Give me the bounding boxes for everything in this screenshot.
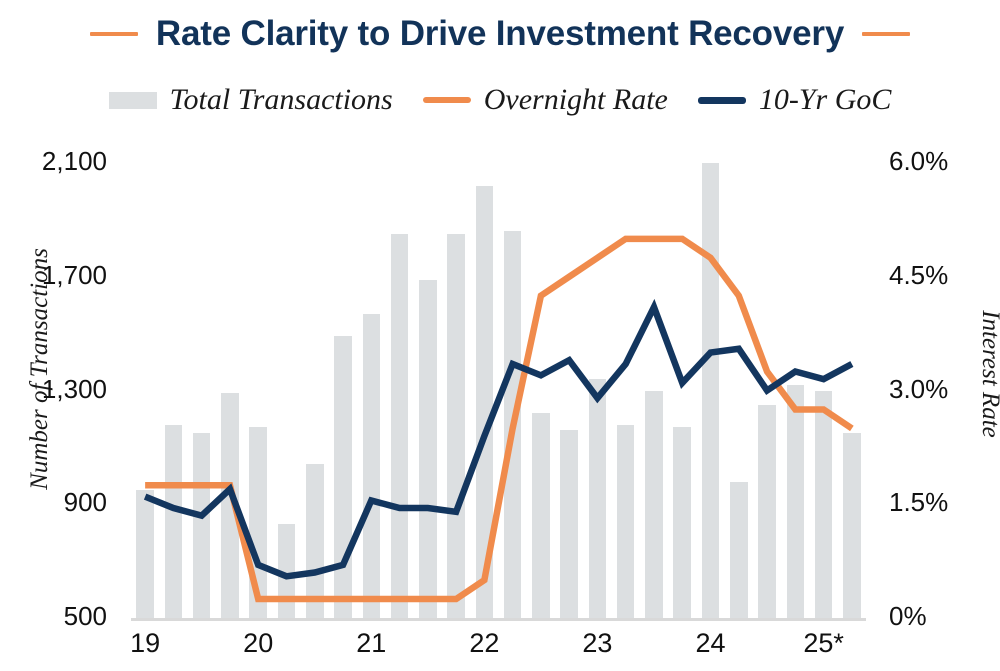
legend-label-total-transactions: Total Transactions — [170, 83, 393, 117]
x-axis-tick-label: 19 — [130, 628, 160, 659]
y-axis-right-tick-label: 0% — [889, 601, 927, 632]
title-rule-right-icon — [862, 32, 910, 36]
y-axis-left-tick-label: 1,700 — [42, 260, 107, 291]
x-axis-tick-label: 23 — [582, 628, 612, 659]
legend-item-total-transactions[interactable]: Total Transactions — [109, 83, 393, 117]
y-axis-left-tick-label: 500 — [64, 601, 107, 632]
x-axis-baseline — [131, 618, 866, 621]
legend-item-10yr-goc[interactable]: 10-Yr GoC — [698, 83, 892, 117]
y-axis-left-tick-label: 1,300 — [42, 374, 107, 405]
y-axis-right-tick-label: 6.0% — [889, 146, 948, 177]
bar-swatch-icon — [109, 92, 157, 109]
y-axis-left-tick-label: 900 — [64, 487, 107, 518]
y-axis-right-title: Interest Rate — [976, 259, 1000, 489]
x-axis-tick-label: 22 — [469, 628, 499, 659]
legend-label-overnight-rate: Overnight Rate — [484, 83, 668, 117]
line-series-10yr-goc — [145, 307, 852, 576]
x-axis-tick-label: 21 — [356, 628, 386, 659]
y-axis-left-tick-label: 2,100 — [42, 146, 107, 177]
line-series-group — [131, 163, 866, 618]
plot-area — [131, 163, 866, 618]
title-rule-left-icon — [90, 32, 138, 36]
legend-label-10yr-goc: 10-Yr GoC — [759, 83, 892, 117]
y-axis-right-tick-label: 3.0% — [889, 374, 948, 405]
page-title: Rate Clarity to Drive Investment Recover… — [156, 14, 844, 54]
x-axis-tick-label: 24 — [695, 628, 725, 659]
chart-header: Rate Clarity to Drive Investment Recover… — [0, 10, 1000, 58]
x-axis-tick-label: 20 — [243, 628, 273, 659]
y-axis-right-tick-label: 4.5% — [889, 260, 948, 291]
x-axis-tick-label: 25* — [803, 628, 844, 659]
line-swatch-icon-overnight — [423, 97, 471, 103]
chart-page: Rate Clarity to Drive Investment Recover… — [0, 0, 1000, 671]
legend-item-overnight-rate[interactable]: Overnight Rate — [423, 83, 668, 117]
chart-legend: Total Transactions Overnight Rate 10-Yr … — [0, 78, 1000, 122]
line-swatch-icon-goc — [698, 97, 746, 104]
y-axis-right-tick-label: 1.5% — [889, 487, 948, 518]
